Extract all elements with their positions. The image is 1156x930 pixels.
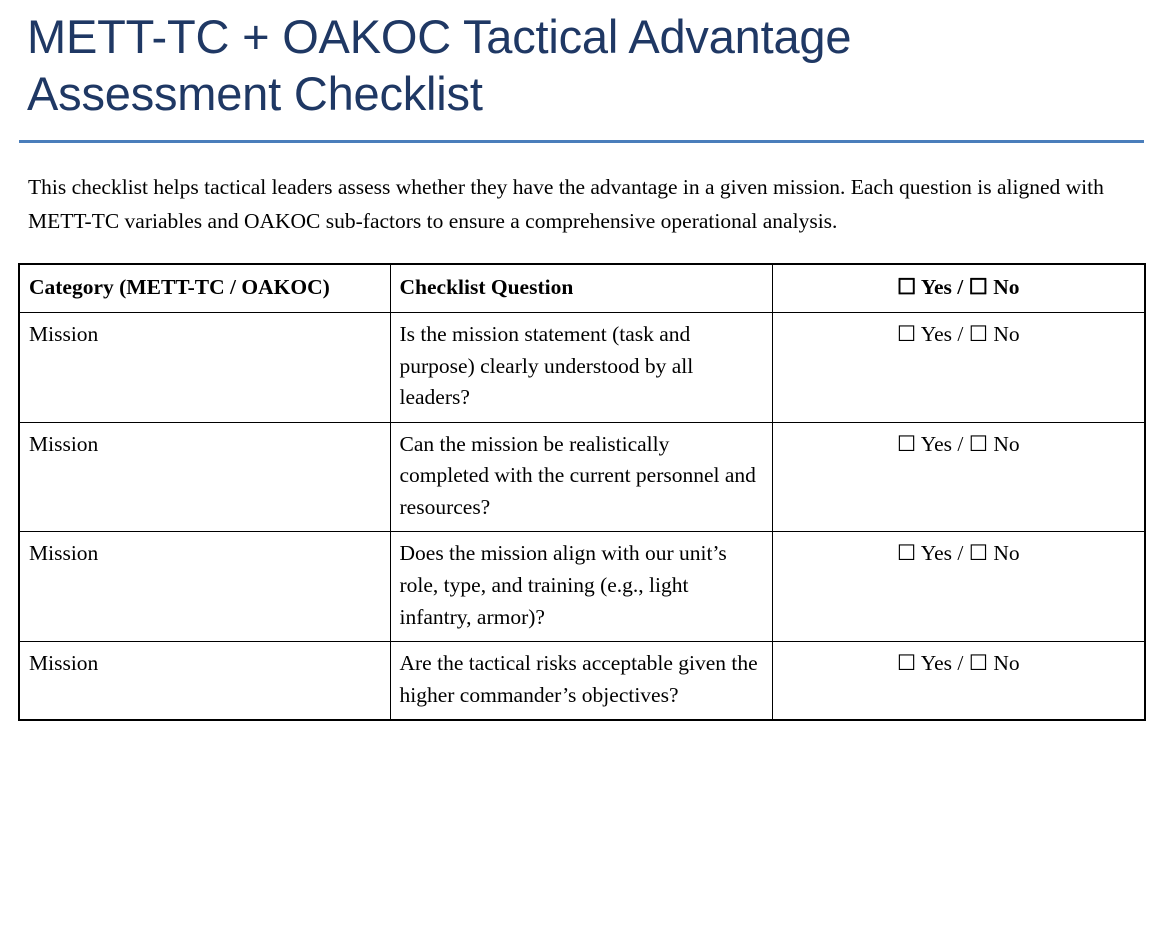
cell-question: Are the tactical risks acceptable given …	[390, 642, 772, 721]
checklist-table-wrapper: Category (METT-TC / OAKOC) Checklist Que…	[18, 263, 1144, 721]
cell-answer-checkboxes[interactable]: ☐ Yes / ☐ No	[772, 312, 1145, 422]
cell-answer-checkboxes[interactable]: ☐ Yes / ☐ No	[772, 422, 1145, 532]
cell-category: Mission	[19, 642, 390, 721]
document-page: METT-TC + OAKOC Tactical Advantage Asses…	[0, 0, 1156, 930]
cell-category: Mission	[19, 312, 390, 422]
cell-question: Can the mission be realistically complet…	[390, 422, 772, 532]
table-body: Mission Is the mission statement (task a…	[19, 312, 1145, 720]
cell-answer-checkboxes[interactable]: ☐ Yes / ☐ No	[772, 642, 1145, 721]
column-header-answer: ☐ Yes / ☐ No	[772, 264, 1145, 312]
table-row: Mission Can the mission be realistically…	[19, 422, 1145, 532]
checklist-table: Category (METT-TC / OAKOC) Checklist Que…	[18, 263, 1146, 721]
table-header-row: Category (METT-TC / OAKOC) Checklist Que…	[19, 264, 1145, 312]
table-row: Mission Is the mission statement (task a…	[19, 312, 1145, 422]
cell-category: Mission	[19, 532, 390, 642]
cell-question: Is the mission statement (task and purpo…	[390, 312, 772, 422]
table-header: Category (METT-TC / OAKOC) Checklist Que…	[19, 264, 1145, 312]
cell-answer-checkboxes[interactable]: ☐ Yes / ☐ No	[772, 532, 1145, 642]
table-row: Mission Does the mission align with our …	[19, 532, 1145, 642]
cell-question: Does the mission align with our unit’s r…	[390, 532, 772, 642]
page-title: METT-TC + OAKOC Tactical Advantage Asses…	[0, 0, 1156, 123]
column-header-question: Checklist Question	[390, 264, 772, 312]
table-row: Mission Are the tactical risks acceptabl…	[19, 642, 1145, 721]
intro-paragraph: This checklist helps tactical leaders as…	[0, 143, 1156, 240]
column-header-category: Category (METT-TC / OAKOC)	[19, 264, 390, 312]
cell-category: Mission	[19, 422, 390, 532]
